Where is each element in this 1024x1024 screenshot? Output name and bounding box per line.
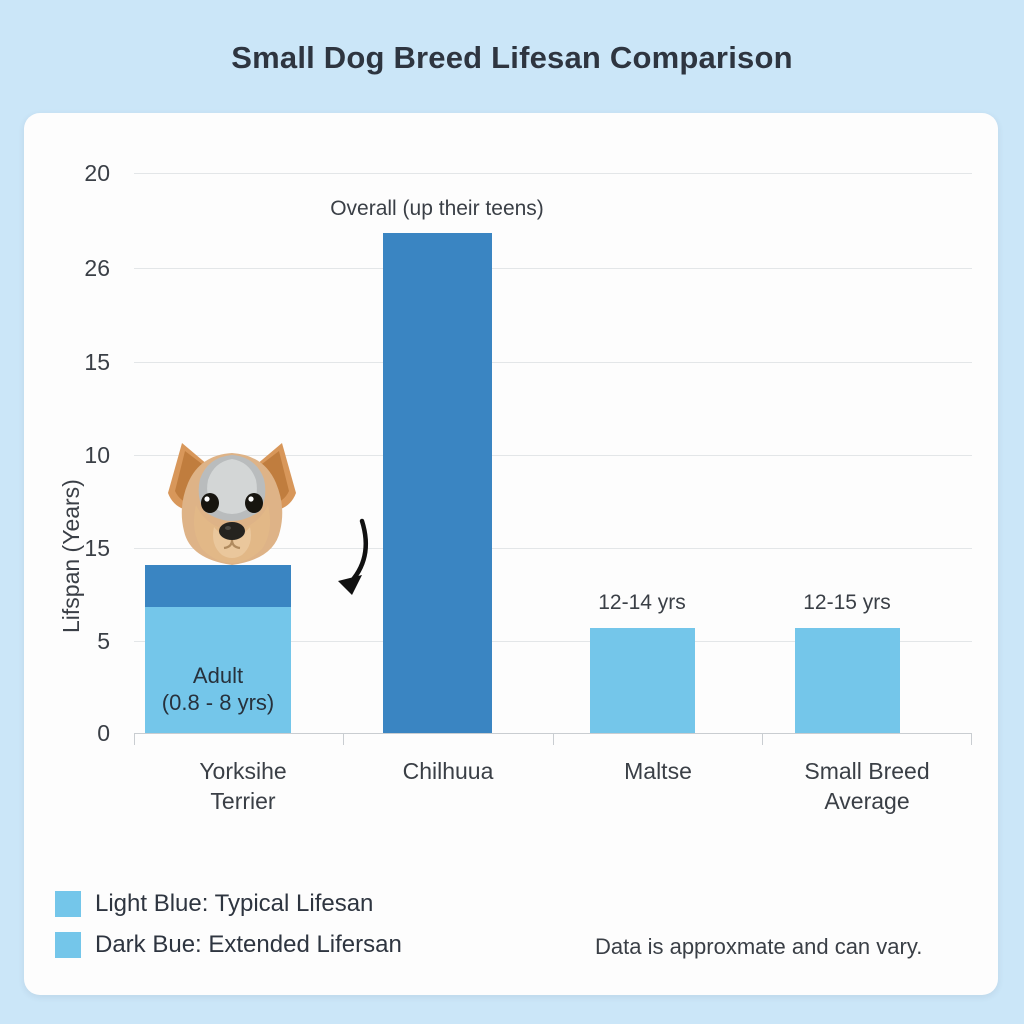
legend-swatch-light-blue [55,891,81,917]
bar-label-chihuahua: Overall (up their teens) [287,197,587,221]
xtick-label-yorkshire-line2: Terrier [138,786,348,816]
legend-item-light-blue[interactable]: Light Blue: Typical Lifesan [55,890,373,918]
bar-segment-extended-yorkshire[interactable] [145,565,291,607]
chart-card: 20 26 15 10 15 5 0 Lifspan (Years) Adult… [24,113,998,995]
gridline-15a [134,362,972,363]
ytick-label-1: 26 [38,255,110,282]
plot-area: 20 26 15 10 15 5 0 Lifspan (Years) Adult… [24,113,998,995]
legend-label-dark-blue: Dark Bue: Extended Lifersan [95,931,402,959]
legend-item-dark-blue[interactable]: Dark Bue: Extended Lifersan [55,931,402,959]
xtick-label-maltese-line1: Maltse [553,756,763,786]
xtick-label-chihuahua: Chilhuua [343,756,553,786]
annotation-adult-line1: Adult [118,663,318,690]
bar-maltese[interactable] [590,628,695,733]
ytick-label-6: 0 [38,720,110,747]
page-title: Small Dog Breed Lifesan Comparison [0,40,1024,76]
annotation-adult-range: Adult (0.8 - 8 yrs) [118,663,318,717]
bar-small-breed-average[interactable] [795,628,900,733]
bar-label-maltese: 12-14 yrs [542,591,742,615]
xtick-label-maltese: Maltse [553,756,763,786]
xtick-label-yorkshire-terrier: Yorksihe Terrier [138,756,348,817]
xtick-mark-right [971,734,972,745]
xtick-mark-1 [343,734,344,745]
chart-page: Small Dog Breed Lifesan Comparison 20 26… [0,0,1024,1024]
legend-swatch-dark-blue [55,932,81,958]
xtick-mark-3 [762,734,763,745]
xtick-label-yorkshire-line1: Yorksihe [138,756,348,786]
xtick-mark-2 [553,734,554,745]
gridline-20 [134,173,972,174]
annotation-adult-line2: (0.8 - 8 yrs) [118,690,318,717]
bar-label-small-breed-average: 12-15 yrs [747,591,947,615]
ytick-label-2: 15 [38,349,110,376]
xtick-label-chihuahua-line1: Chilhuua [343,756,553,786]
xtick-label-small-breed-line1: Small Breed [762,756,972,786]
xtick-label-small-breed-line2: Average [762,786,972,816]
xtick-mark-left [134,734,135,745]
ytick-label-3: 10 [38,442,110,469]
gridline-15b [134,548,972,549]
ytick-label-0: 20 [38,160,110,187]
footnote-text: Data is approxmate and can vary. [595,934,922,960]
gridline-26 [134,268,972,269]
xtick-label-small-breed-average: Small Breed Average [762,756,972,817]
legend-label-light-blue: Light Blue: Typical Lifesan [95,890,373,918]
gridline-10 [134,455,972,456]
y-axis-title: Lifspan (Years) [58,479,85,633]
bar-chihuahua[interactable] [383,233,492,733]
